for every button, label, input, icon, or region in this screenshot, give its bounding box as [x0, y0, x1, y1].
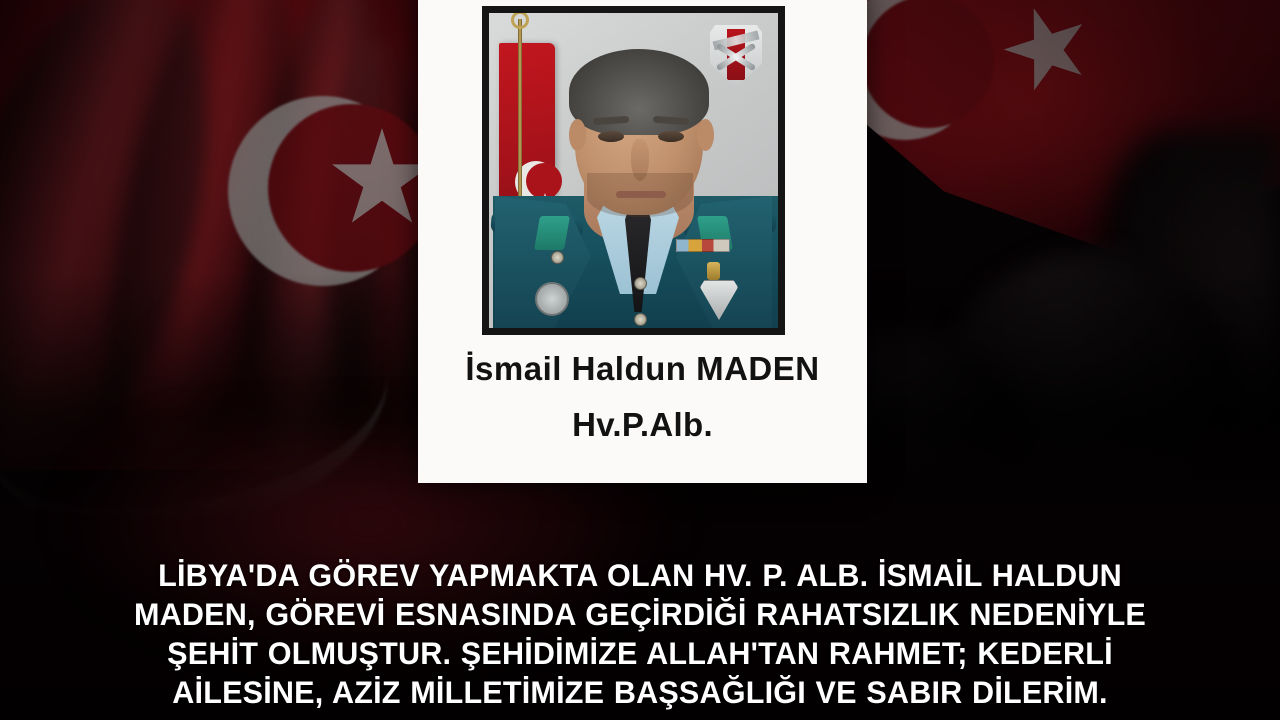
memorial-poster: İsmail Haldun MADEN Hv.P.Alb. LİBYA'DA G…: [0, 0, 1280, 720]
subject-name: İsmail Haldun MADEN: [418, 350, 867, 388]
uniform-button: [634, 313, 647, 326]
medal-icon: [707, 262, 720, 280]
portrait-photo: [489, 13, 778, 328]
subject-eye: [658, 131, 684, 142]
statement-line-2: MADEN, GÖREVİ ESNASINDA GEÇİRDİĞİ RAHATS…: [68, 595, 1213, 634]
chest-badge-icon: [535, 282, 569, 316]
subject-eye: [598, 131, 624, 142]
statement-line-3: ŞEHİT OLMUŞTUR. ŞEHİDİMİZE ALLAH'TAN RAH…: [68, 634, 1213, 673]
uniform-button: [551, 251, 564, 264]
subject-mouth: [616, 191, 666, 198]
statement-line-1: LİBYA'DA GÖREV YAPMAKTA OLAN HV. P. ALB.…: [68, 556, 1213, 595]
memorial-statement: LİBYA'DA GÖREV YAPMAKTA OLAN HV. P. ALB.…: [68, 556, 1213, 712]
statement-line-4: AİLESİNE, AZİZ MİLLETİMİZE BAŞSAĞLIĞI VE…: [68, 673, 1213, 712]
unit-crest-icon: [710, 25, 762, 87]
medal-ribbon-bar: [676, 239, 730, 252]
subject-ear: [569, 119, 586, 151]
photo-frame: [482, 6, 785, 335]
uniform-collar-tab: [534, 216, 570, 250]
uniform-button: [634, 277, 647, 290]
subject-rank: Hv.P.Alb.: [418, 406, 867, 444]
portrait-card: İsmail Haldun MADEN Hv.P.Alb.: [418, 0, 867, 483]
flag-finial-icon: [511, 13, 529, 29]
subject-ear: [697, 119, 714, 151]
